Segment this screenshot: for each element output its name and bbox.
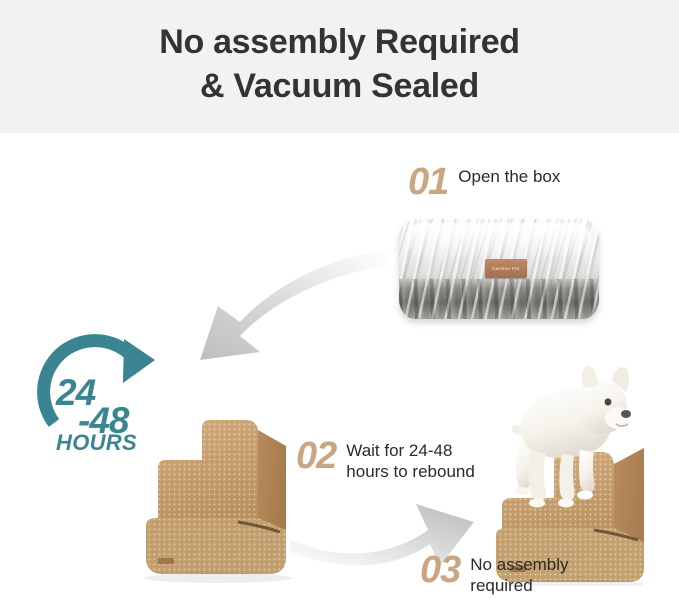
package-brand-label: Gardner Pet bbox=[485, 259, 527, 278]
step-02-text: Wait for 24-48 hours to rebound bbox=[346, 437, 475, 482]
step-03: 03 No assembly required bbox=[420, 551, 569, 596]
page-title: No assembly Required & Vacuum Sealed bbox=[159, 21, 520, 112]
step-02: 02 Wait for 24-48 hours to rebound bbox=[296, 437, 475, 482]
header-band: No assembly Required & Vacuum Sealed bbox=[0, 0, 679, 133]
step-01-text: Open the box bbox=[458, 163, 560, 188]
french-bulldog-illustration bbox=[504, 362, 634, 530]
curved-arrow-down-left-icon bbox=[178, 248, 388, 363]
page-title-line-2: & Vacuum Sealed bbox=[159, 65, 520, 109]
step-01: 01 Open the box bbox=[408, 163, 560, 201]
step-03-text: No assembly required bbox=[470, 551, 568, 596]
package-brand-label-text: Gardner Pet bbox=[492, 266, 520, 272]
package-sheen bbox=[407, 223, 591, 257]
page-title-line-1: No assembly Required bbox=[159, 21, 520, 65]
infographic-canvas: No assembly Required & Vacuum Sealed 01 … bbox=[0, 0, 679, 599]
vacuum-sealed-package: Gardner Pet bbox=[399, 219, 599, 327]
badge-hours-unit: HOURS bbox=[56, 432, 137, 454]
step-01-number: 01 bbox=[408, 163, 448, 201]
step-02-number: 02 bbox=[296, 437, 336, 475]
step-03-number: 03 bbox=[420, 551, 460, 589]
